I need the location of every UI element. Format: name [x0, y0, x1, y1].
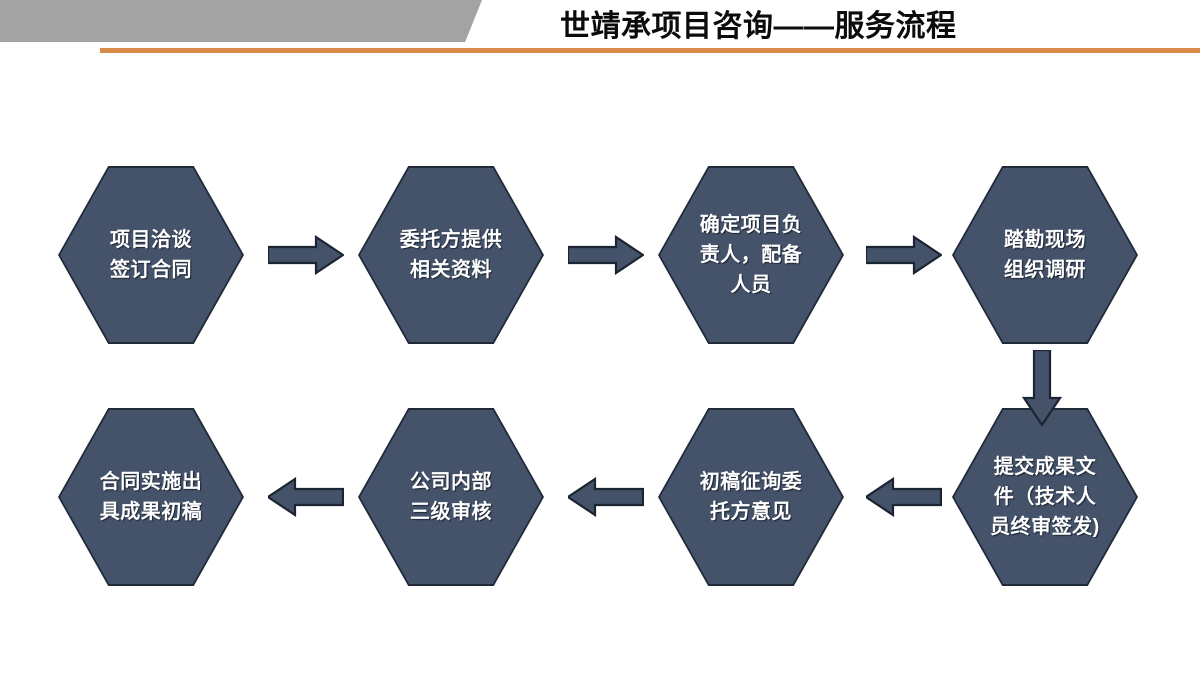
arrow-left-icon-2 — [568, 477, 644, 517]
arrow-right-icon-1 — [268, 235, 344, 275]
arrow-right-icon-3 — [866, 235, 942, 275]
flow-node-label: 踏勘现场 组织调研 — [952, 166, 1138, 344]
flow-node-label: 提交成果文 件（技术人 员终审签发) — [952, 408, 1138, 586]
arrow-down-icon-1 — [1022, 350, 1062, 426]
flow-node-label: 项目洽谈 签订合同 — [58, 166, 244, 344]
flow-node-1[interactable]: 项目洽谈 签订合同 — [58, 166, 244, 344]
flow-node-4[interactable]: 踏勘现场 组织调研 — [952, 166, 1138, 344]
flow-node-label: 初稿征询委 托方意见 — [658, 408, 844, 586]
flow-node-6[interactable]: 初稿征询委 托方意见 — [658, 408, 844, 586]
flow-node-label: 公司内部 三级审核 — [358, 408, 544, 586]
flow-node-label: 合同实施出 具成果初稿 — [58, 408, 244, 586]
flow-node-2[interactable]: 委托方提供 相关资料 — [358, 166, 544, 344]
flow-node-8[interactable]: 合同实施出 具成果初稿 — [58, 408, 244, 586]
service-process-flow-diagram: 项目洽谈 签订合同 委托方提供 相关资料 确定项目负 责人，配备 人员 踏勘现场… — [0, 0, 1200, 675]
flow-node-7[interactable]: 公司内部 三级审核 — [358, 408, 544, 586]
flow-node-label: 确定项目负 责人，配备 人员 — [658, 166, 844, 344]
arrow-right-icon-2 — [568, 235, 644, 275]
arrow-left-icon-3 — [268, 477, 344, 517]
flow-node-5[interactable]: 提交成果文 件（技术人 员终审签发) — [952, 408, 1138, 586]
flow-node-label: 委托方提供 相关资料 — [358, 166, 544, 344]
flow-node-3[interactable]: 确定项目负 责人，配备 人员 — [658, 166, 844, 344]
arrow-left-icon-1 — [866, 477, 942, 517]
